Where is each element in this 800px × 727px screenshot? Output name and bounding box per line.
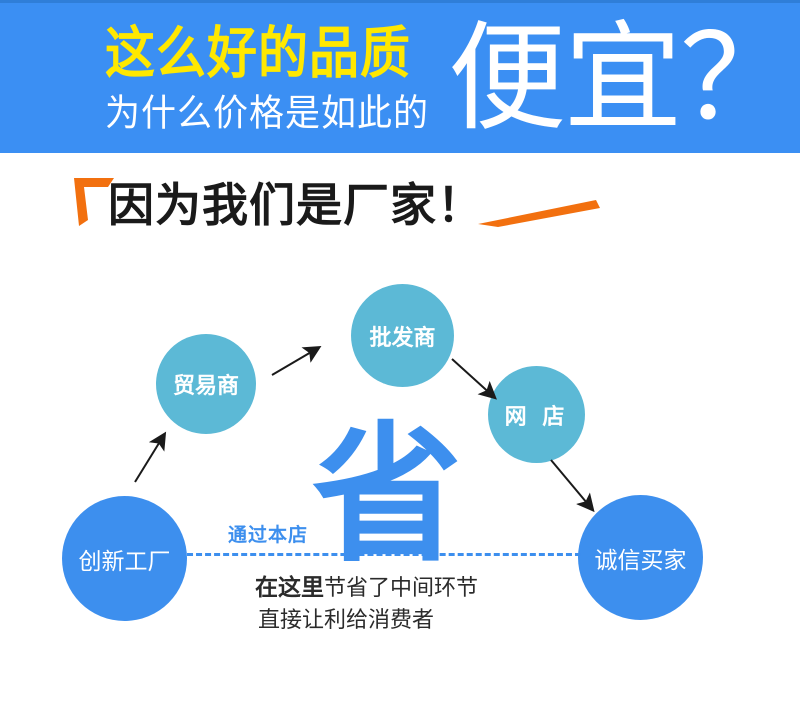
diagram-node-onlineshop[interactable]: 网 店 bbox=[488, 366, 585, 463]
direct-route-arrow-head bbox=[586, 546, 597, 558]
bottom-whitespace bbox=[0, 676, 800, 727]
diagram-node-wholesaler[interactable]: 批发商 bbox=[351, 284, 454, 387]
banner-headline-large: 便宜？ bbox=[448, 13, 796, 143]
orange-wedge-icon bbox=[478, 198, 600, 228]
diagram-node-trader-label: 贸易商 bbox=[173, 368, 239, 400]
diagram-node-factory-label: 创新工厂 bbox=[79, 542, 171, 576]
save-character-graphic: 省 bbox=[312, 421, 462, 571]
arrow-trader-to-wholesaler bbox=[272, 348, 318, 375]
arrow-factory-to-trader bbox=[135, 435, 164, 482]
banner-headline-white: 为什么价格是如此的 bbox=[105, 91, 465, 137]
header-banner: 这么好的品质 为什么价格是如此的 便宜？ bbox=[0, 0, 800, 153]
diagram-node-trader[interactable]: 贸易商 bbox=[156, 334, 256, 434]
promo-banner-page: 这么好的品质 为什么价格是如此的 便宜？ 因为我们是厂家！ 省 bbox=[0, 0, 800, 727]
supply-chain-diagram: 省 网店1 创新工厂 贸易商 批发商 bbox=[0, 255, 800, 675]
banner-text-block: 这么好的品质 为什么价格是如此的 bbox=[105, 21, 465, 135]
direct-route-dashed-line bbox=[178, 553, 590, 556]
footnote-line-1: 在这里节省了中间环节 bbox=[255, 568, 478, 602]
through-store-label: 通过本店 bbox=[228, 520, 308, 547]
arrow-wholesaler-to-onlineshop bbox=[452, 359, 494, 397]
footnote-line-2: 直接让利给消费者 bbox=[258, 602, 434, 634]
diagram-node-factory[interactable]: 创新工厂 bbox=[62, 496, 187, 621]
footnote-line-1-rest: 节省了中间环节 bbox=[324, 576, 478, 601]
banner-headline-yellow: 这么好的品质 bbox=[105, 21, 465, 86]
page-title: 因为我们是厂家！ bbox=[108, 177, 484, 233]
diagram-node-onlineshop-label: 网 店 bbox=[505, 399, 569, 431]
diagram-node-buyer-label: 诚信买家 bbox=[595, 541, 687, 575]
diagram-node-wholesaler-label: 批发商 bbox=[369, 320, 435, 352]
footnote-line-1-strong: 在这里 bbox=[255, 575, 324, 601]
arrow-onlineshop-to-buyer bbox=[551, 460, 592, 509]
